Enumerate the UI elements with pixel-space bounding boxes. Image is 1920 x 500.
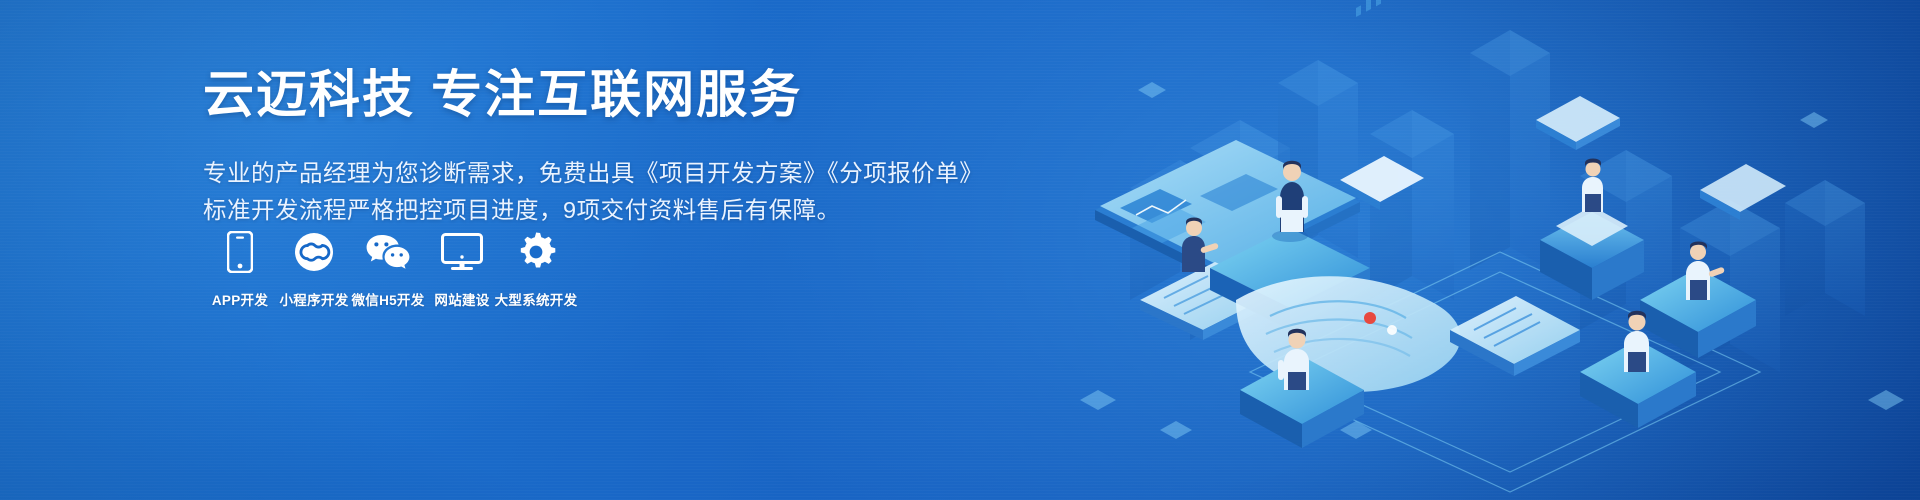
isometric-illustration bbox=[1040, 0, 1920, 500]
hero-banner: 云迈科技 专注互联网服务 专业的产品经理为您诊断需求，免费出具《项目开发方案》《… bbox=[0, 0, 1920, 500]
service-label: 大型系统开发 bbox=[495, 289, 578, 309]
service-list: APP开发 小程序开发 bbox=[203, 229, 573, 309]
service-label: 小程序开发 bbox=[280, 289, 349, 309]
subtitle-line-1: 专业的产品经理为您诊断需求，免费出具《项目开发方案》《分项报价单》 bbox=[203, 156, 1103, 191]
service-label: 网站建设 bbox=[434, 289, 489, 309]
page-title: 云迈科技 专注互联网服务 bbox=[203, 66, 1103, 125]
wechat-icon bbox=[365, 229, 411, 275]
service-item-miniprogram[interactable]: 小程序开发 bbox=[277, 229, 351, 309]
service-item-website[interactable]: 网站建设 bbox=[425, 229, 499, 309]
service-label: 微信H5开发 bbox=[351, 289, 424, 309]
service-item-app[interactable]: APP开发 bbox=[203, 229, 277, 309]
monitor-icon bbox=[441, 229, 483, 275]
hero-copy: 云迈科技 专注互联网服务 专业的产品经理为您诊断需求，免费出具《项目开发方案》《… bbox=[203, 66, 1103, 228]
subtitle-line-2: 标准开发流程严格把控项目进度，9项交付资料售后有保障。 bbox=[203, 193, 1103, 228]
gear-icon bbox=[515, 229, 557, 275]
mini-program-icon bbox=[294, 229, 334, 275]
mobile-phone-icon bbox=[227, 229, 253, 275]
service-item-system[interactable]: 大型系统开发 bbox=[499, 229, 573, 309]
service-label: APP开发 bbox=[212, 289, 268, 309]
service-item-wechat[interactable]: 微信H5开发 bbox=[351, 229, 425, 309]
